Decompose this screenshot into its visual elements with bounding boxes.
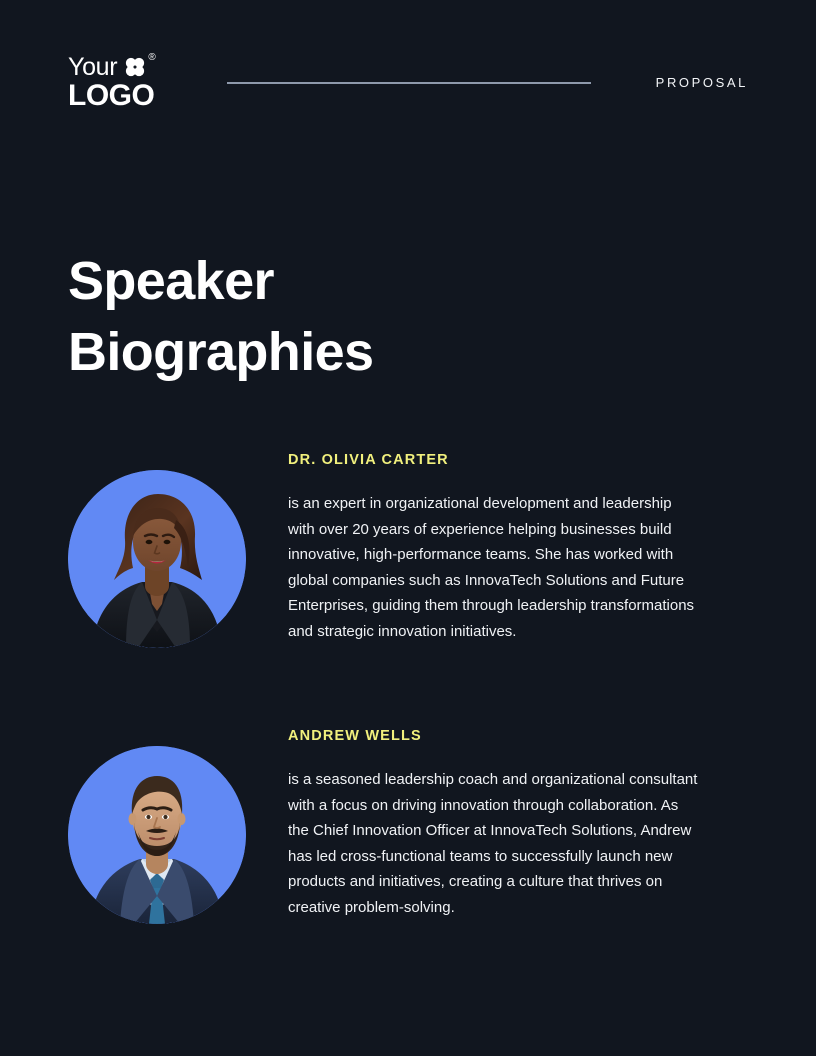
page-title-line-1: Speaker <box>68 246 528 317</box>
speaker-bio-body: DR. OLIVIA CARTER is an expert in organi… <box>288 452 748 645</box>
speaker-description: is an expert in organizational developme… <box>288 491 698 645</box>
speaker-bio-list: DR. OLIVIA CARTER is an expert in organi… <box>68 452 748 924</box>
clover-flower-icon <box>124 56 146 78</box>
registered-trademark-icon: ® <box>148 53 155 63</box>
speaker-name: ANDREW WELLS <box>288 728 748 745</box>
logo-top-row: Your ® <box>68 54 200 80</box>
document-type-label: PROPOSAL <box>638 75 748 90</box>
page-title: Speaker Biographies <box>68 246 528 388</box>
speaker-bio-item: ANDREW WELLS is a seasoned leadership co… <box>68 728 748 924</box>
proposal-page: Your ® LOGO PROPOSAL Speaker <box>0 0 816 1056</box>
avatar-andrew-wells <box>68 746 246 924</box>
logo-word-logo: LOGO <box>68 81 200 111</box>
brand-logo[interactable]: Your ® LOGO <box>68 54 200 111</box>
header-divider <box>227 82 591 84</box>
logo-word-your: Your <box>68 54 117 80</box>
speaker-name: DR. OLIVIA CARTER <box>288 452 748 469</box>
speaker-bio-body: ANDREW WELLS is a seasoned leadership co… <box>288 728 748 921</box>
page-title-line-2: Biographies <box>68 317 528 388</box>
speaker-description: is a seasoned leadership coach and organ… <box>288 767 698 921</box>
speaker-bio-item: DR. OLIVIA CARTER is an expert in organi… <box>68 452 748 648</box>
page-header: Your ® LOGO PROPOSAL <box>68 52 748 112</box>
avatar-olivia-carter <box>68 470 246 648</box>
